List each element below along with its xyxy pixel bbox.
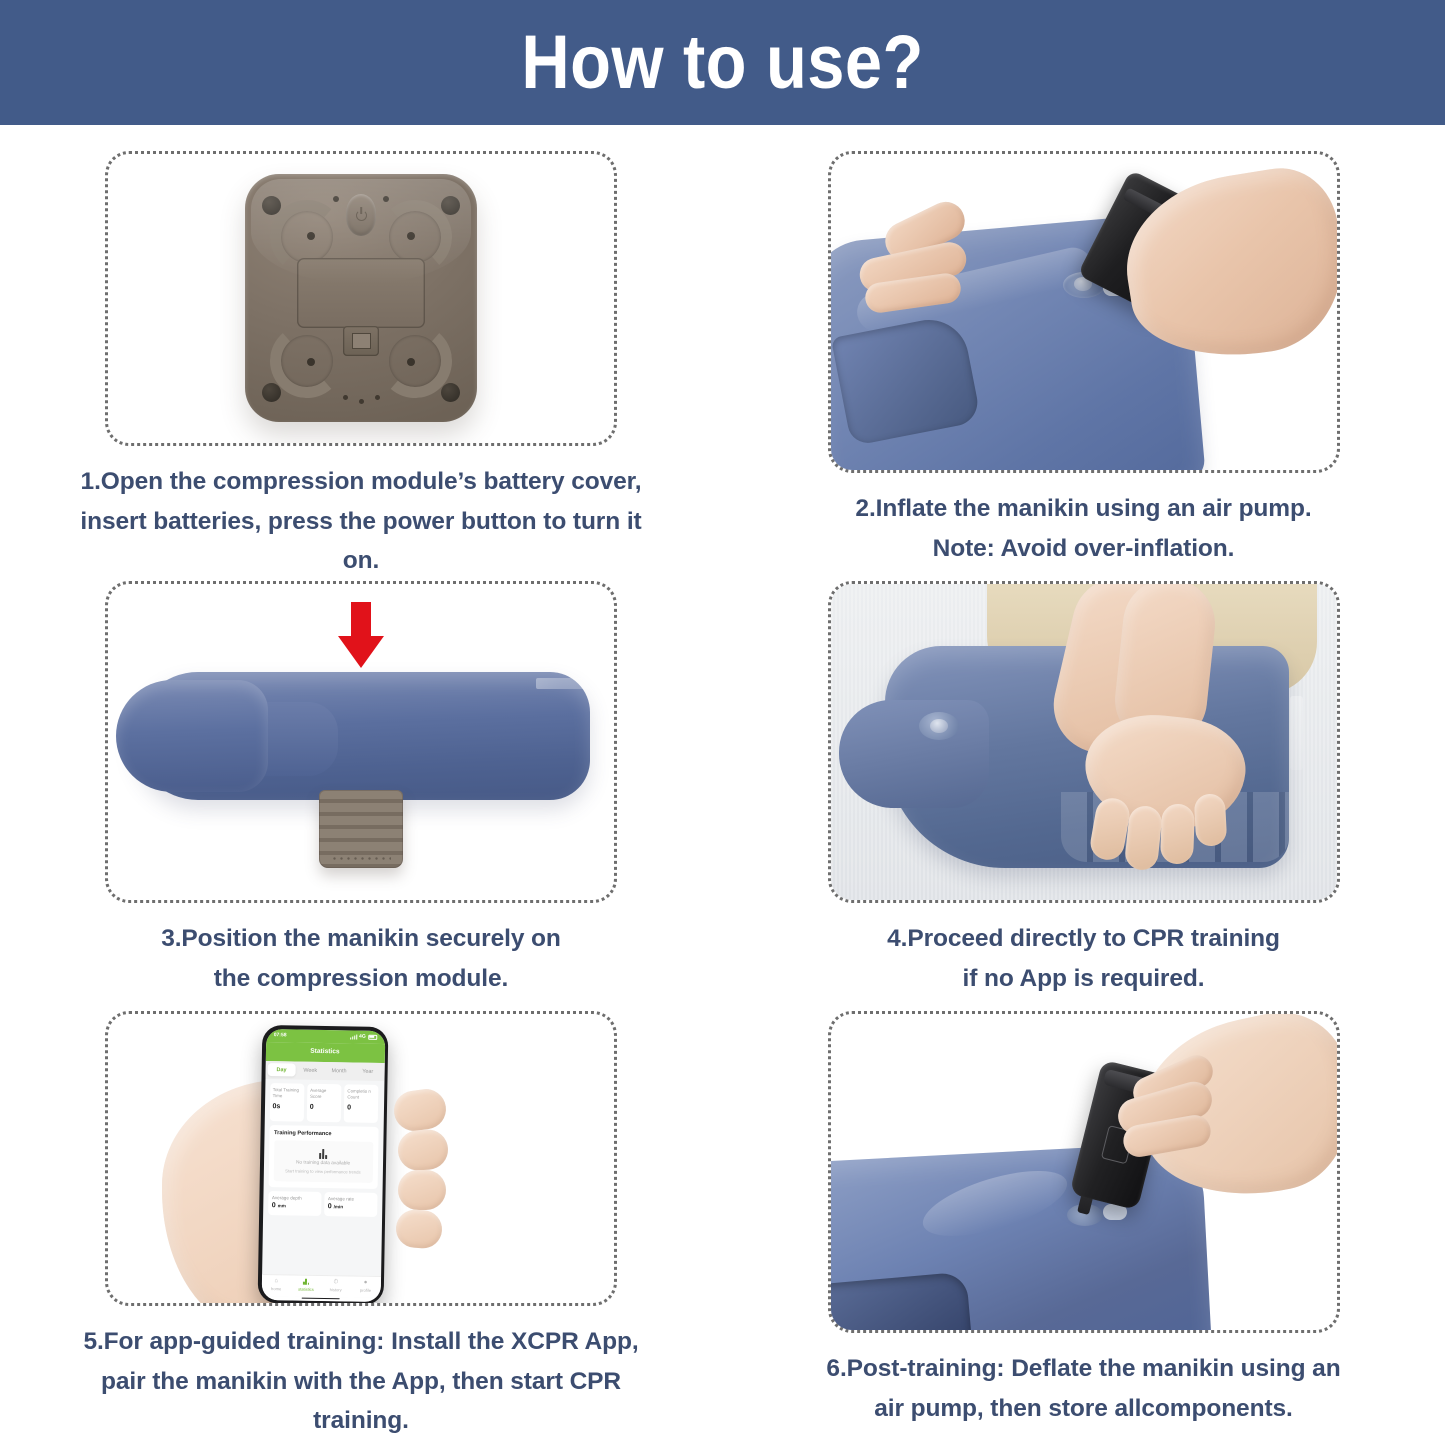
manikin-head bbox=[116, 680, 268, 792]
module-wrapper bbox=[108, 154, 614, 443]
performance-empty-state: No training data available Start trainin… bbox=[273, 1140, 373, 1183]
step-4-caption-line-2: if no App is required. bbox=[784, 959, 1384, 999]
vent-hole-2 bbox=[359, 399, 364, 404]
metric-label: Average depth bbox=[272, 1195, 317, 1201]
nav-profile[interactable]: ● profile bbox=[351, 1280, 381, 1293]
card-label: Average Score bbox=[310, 1087, 339, 1100]
tab-week[interactable]: Week bbox=[296, 1064, 324, 1077]
bar-chart-icon bbox=[319, 1148, 328, 1158]
figure-app-on-phone: 07:58 4G Statistics Day Week Month Year bbox=[105, 1011, 617, 1306]
vent-hole-1 bbox=[343, 395, 348, 400]
screw-6 bbox=[383, 196, 389, 202]
statistics-icon bbox=[303, 1279, 309, 1285]
status-bar-indicators: 4G bbox=[351, 1033, 377, 1039]
tab-month[interactable]: Month bbox=[325, 1064, 353, 1077]
home-indicator bbox=[261, 1295, 380, 1301]
tab-day[interactable]: Day bbox=[268, 1063, 296, 1076]
step-6-caption-line-1: 6.Post-training: Deflate the manikin usi… bbox=[784, 1349, 1384, 1389]
step-3: 3.Position the manikin securely on the c… bbox=[0, 581, 722, 1011]
card-label: Completio n Count bbox=[347, 1088, 376, 1101]
step-3-caption: 3.Position the manikin securely on the c… bbox=[61, 919, 661, 998]
card-value: 0 bbox=[347, 1105, 375, 1112]
metric-value: 0 bbox=[272, 1202, 276, 1209]
training-performance-card: Training Performance No training data av… bbox=[268, 1125, 378, 1189]
nav-home[interactable]: ⌂ home bbox=[261, 1278, 291, 1291]
nav-history[interactable]: ⏱ history bbox=[321, 1279, 351, 1292]
metric-unit: mm bbox=[278, 1203, 286, 1208]
empty-state-title: No training data available bbox=[296, 1161, 350, 1167]
foot-top-right bbox=[441, 196, 460, 215]
app-screen-title: Statistics bbox=[265, 1041, 384, 1062]
figure-deflate-manikin bbox=[828, 1011, 1340, 1333]
status-bar-time: 07:58 bbox=[274, 1032, 287, 1038]
step-5-caption-line-1: 5.For app-guided training: Install the X… bbox=[61, 1322, 661, 1362]
step-3-caption-line-2: the compression module. bbox=[61, 959, 661, 999]
tab-year[interactable]: Year bbox=[354, 1065, 382, 1078]
phone-screen: 07:58 4G Statistics Day Week Month Year bbox=[261, 1028, 385, 1301]
manikin-pocket bbox=[828, 1271, 974, 1333]
finger-2 bbox=[397, 1128, 450, 1171]
step-2: 2.Inflate the manikin using an air pump.… bbox=[722, 151, 1445, 581]
foot-bottom-right bbox=[441, 383, 460, 402]
card-label: Total Training Time bbox=[273, 1087, 302, 1100]
manikin-head bbox=[839, 700, 989, 808]
step-2-caption-line-2: Note: Avoid over-inflation. bbox=[784, 529, 1384, 569]
finger-3 bbox=[398, 1170, 446, 1210]
step-6: 6.Post-training: Deflate the manikin usi… bbox=[722, 1011, 1445, 1441]
step-5-caption: 5.For app-guided training: Install the X… bbox=[61, 1322, 661, 1441]
bottom-navigation: ⌂ home statistics ⏱ history ● bbox=[261, 1274, 380, 1298]
clock-icon: ⏱ bbox=[333, 1279, 338, 1285]
page-title: How to use? bbox=[521, 19, 923, 106]
card-average-rate: Average rate 0 /min bbox=[324, 1192, 377, 1217]
home-icon: ⌂ bbox=[274, 1278, 278, 1284]
card-completion-count: Completio n Count 0 bbox=[344, 1084, 379, 1123]
nav-statistics[interactable]: statistics bbox=[291, 1278, 321, 1291]
battery-icon bbox=[368, 1034, 377, 1039]
compression-module-base bbox=[319, 790, 403, 868]
step-4-caption-line-1: 4.Proceed directly to CPR training bbox=[784, 919, 1384, 959]
finger-1 bbox=[391, 1087, 448, 1134]
finger-4 bbox=[1193, 793, 1227, 847]
metric-label: Average rate bbox=[328, 1196, 373, 1202]
nav-label: history bbox=[330, 1287, 342, 1292]
card-value: 0 bbox=[310, 1104, 338, 1111]
figure-cpr-training bbox=[828, 581, 1340, 903]
deflating-manikin bbox=[828, 1142, 1212, 1333]
smartphone: 07:58 4G Statistics Day Week Month Year bbox=[258, 1025, 389, 1305]
figure-inflate-manikin bbox=[828, 151, 1340, 473]
finger-3 bbox=[1159, 803, 1194, 864]
empty-state-subtitle: Start training to view performance trend… bbox=[285, 1168, 360, 1174]
metric-value: 0 bbox=[328, 1203, 332, 1210]
nav-label: statistics bbox=[298, 1286, 314, 1291]
metric-unit: /min bbox=[334, 1204, 344, 1209]
manikin-valve bbox=[919, 712, 959, 740]
page-header: How to use? bbox=[0, 0, 1445, 125]
metric-cards: Average depth 0 mm Average rate 0 /min bbox=[263, 1186, 382, 1216]
step-2-caption: 2.Inflate the manikin using an air pump.… bbox=[784, 489, 1384, 568]
power-button-icon bbox=[346, 194, 376, 236]
step-1-caption-line-1: 1.Open the compression module’s battery … bbox=[61, 462, 661, 502]
card-value: 0s bbox=[272, 1103, 300, 1110]
nav-label: home bbox=[271, 1286, 281, 1291]
foot-bottom-left bbox=[262, 383, 281, 402]
screw-5 bbox=[333, 196, 339, 202]
step-1-caption-line-2: insert batteries, press the power button… bbox=[61, 502, 661, 581]
figure-manikin-on-module bbox=[105, 581, 617, 903]
step-6-caption-line-2: air pump, then store allcomponents. bbox=[784, 1389, 1384, 1429]
signal-icon bbox=[351, 1034, 358, 1039]
manikin-brand-label bbox=[1290, 696, 1303, 770]
steps-grid: 1.Open the compression module’s battery … bbox=[0, 125, 1445, 1445]
step-1: 1.Open the compression module’s battery … bbox=[0, 151, 722, 581]
period-tabs: Day Week Month Year bbox=[265, 1060, 384, 1080]
manikin-logo bbox=[536, 678, 590, 689]
card-average-depth: Average depth 0 mm bbox=[268, 1191, 321, 1216]
step-5: 07:58 4G Statistics Day Week Month Year bbox=[0, 1011, 722, 1441]
figure-compression-module bbox=[105, 151, 617, 446]
nav-label: profile bbox=[360, 1287, 371, 1292]
step-4-caption: 4.Proceed directly to CPR training if no… bbox=[784, 919, 1384, 998]
step-5-caption-line-2: pair the manikin with the App, then star… bbox=[61, 1362, 661, 1441]
vent-hole-3 bbox=[375, 395, 380, 400]
compression-module-body bbox=[245, 174, 477, 422]
network-label: 4G bbox=[359, 1034, 366, 1040]
summary-cards: Total Training Time 0s Average Score 0 C… bbox=[264, 1078, 384, 1122]
step-2-caption-line-1: 2.Inflate the manikin using an air pump. bbox=[784, 489, 1384, 529]
step-1-caption: 1.Open the compression module’s battery … bbox=[61, 462, 661, 581]
step-3-caption-line-1: 3.Position the manikin securely on bbox=[61, 919, 661, 959]
card-average-score: Average Score 0 bbox=[307, 1083, 342, 1122]
person-icon: ● bbox=[364, 1280, 368, 1286]
battery-cover-latch bbox=[343, 326, 379, 356]
card-total-training-time: Total Training Time 0s bbox=[269, 1083, 304, 1122]
battery-cover-panel bbox=[297, 258, 425, 328]
step-6-caption: 6.Post-training: Deflate the manikin usi… bbox=[784, 1349, 1384, 1428]
performance-heading: Training Performance bbox=[274, 1130, 373, 1138]
step-4: 4.Proceed directly to CPR training if no… bbox=[722, 581, 1445, 1011]
manikin-crease-highlight bbox=[915, 1158, 1073, 1250]
finger-4 bbox=[395, 1208, 444, 1249]
